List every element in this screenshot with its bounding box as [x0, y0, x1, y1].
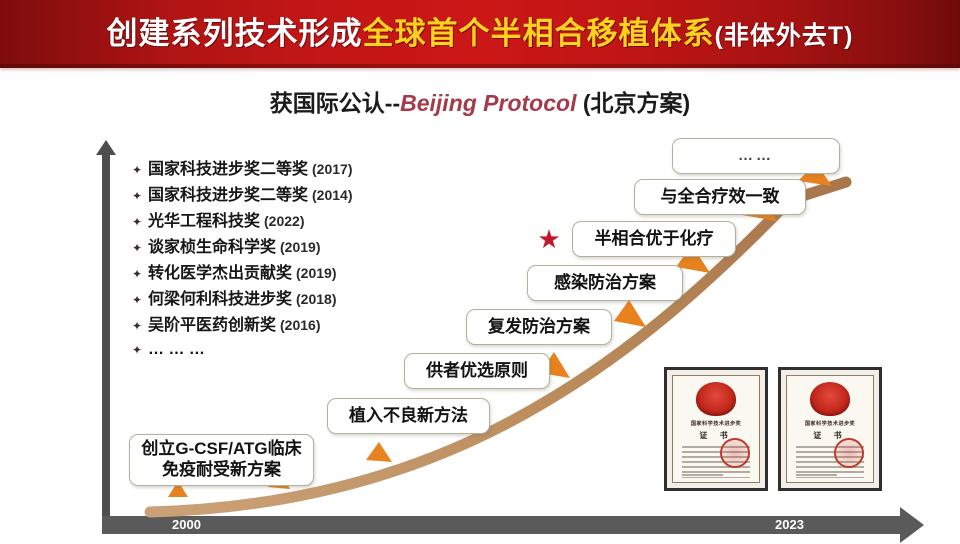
diamond-bullet-icon: ✦ [132, 183, 148, 209]
award-year: (2018) [296, 291, 336, 307]
diamond-bullet-icon: ✦ [132, 235, 148, 261]
red-seal-icon [834, 438, 864, 468]
list-item: ✦ 吴阶平医药创新奖 (2016) [132, 311, 462, 337]
award-name: 国家科技进步奖二等奖 [148, 181, 308, 205]
red-seal-icon [720, 438, 750, 468]
award-name: 国家科技进步奖二等奖 [148, 155, 308, 179]
list-item: ✦ 光华工程科技奖 (2022) [132, 207, 462, 233]
certificate-image-1: 国家科学技术进步奖 证 书 [664, 367, 768, 491]
certificate-frame: 国家科学技术进步奖 证 书 [786, 375, 874, 483]
certificate-award-title: 国家科学技术进步奖 [805, 420, 855, 427]
award-name: 转化医学杰出贡献奖 [148, 259, 292, 283]
award-name: 何梁何利科技进步奖 [148, 285, 292, 309]
certificate-footer-line [682, 474, 723, 476]
certificate-image-2: 国家科学技术进步奖 证 书 [778, 367, 882, 491]
award-name: 吴阶平医药创新奖 [148, 311, 276, 335]
award-year: (2017) [312, 161, 352, 177]
milestone-box-infection-prevention[interactable]: 感染防治方案 [527, 265, 683, 301]
diamond-bullet-icon: ✦ [132, 313, 148, 339]
list-item: ✦ 转化医学杰出贡献奖 (2019) [132, 259, 462, 285]
milestone-box-haplo-vs-chemo[interactable]: 半相合优于化疗 [572, 221, 736, 257]
milestone-box-equal-to-matched[interactable]: 与全合疗效一致 [634, 179, 806, 215]
award-year: (2019) [296, 265, 336, 281]
list-item: ✦ 何梁何利科技进步奖 (2018) [132, 285, 462, 311]
slide-canvas: 创建系列技术形成全球首个半相合移植体系(非体外去T) 获国际公认--Beijin… [0, 0, 960, 544]
milestone-box-engraftment[interactable]: 植入不良新方法 [327, 398, 490, 434]
list-item: ✦ 国家科技进步奖二等奖 (2017) [132, 155, 462, 181]
award-year: (2014) [312, 187, 352, 203]
diamond-bullet-icon: ✦ [132, 209, 148, 235]
milestone-box-gcsf-atg[interactable]: 创立G-CSF/ATG临床 免疫耐受新方案 [129, 434, 314, 486]
award-year: (2022) [264, 213, 304, 229]
diamond-bullet-icon: ✦ [132, 287, 148, 313]
certificate-award-title: 国家科学技术进步奖 [691, 420, 741, 427]
awards-list: ✦ 国家科技进步奖二等奖 (2017) ✦ 国家科技进步奖二等奖 (2014) … [132, 155, 462, 363]
milestone-box-donor-selection[interactable]: 供者优选原则 [404, 353, 550, 389]
milestone-box-ellipsis[interactable]: …… [672, 138, 840, 174]
milestone-box-relapse-prevention[interactable]: 复发防治方案 [466, 309, 612, 345]
diamond-bullet-icon: ✦ [132, 157, 148, 183]
diamond-bullet-icon: ✦ [132, 337, 148, 363]
national-emblem-icon [810, 382, 850, 416]
national-emblem-icon [696, 382, 736, 416]
award-year: (2016) [280, 317, 320, 333]
award-name: 谈家桢生命科学奖 [148, 233, 276, 257]
award-year: (2019) [280, 239, 320, 255]
certificate-frame: 国家科学技术进步奖 证 书 [672, 375, 760, 483]
red-star-icon: ★ [536, 226, 562, 252]
diamond-bullet-icon: ✦ [132, 261, 148, 287]
award-name: 光华工程科技奖 [148, 207, 260, 231]
list-item: ✦ 国家科技进步奖二等奖 (2014) [132, 181, 462, 207]
award-name: … … … [148, 341, 205, 359]
certificate-footer-line [796, 474, 837, 476]
list-item: ✦ 谈家桢生命科学奖 (2019) [132, 233, 462, 259]
